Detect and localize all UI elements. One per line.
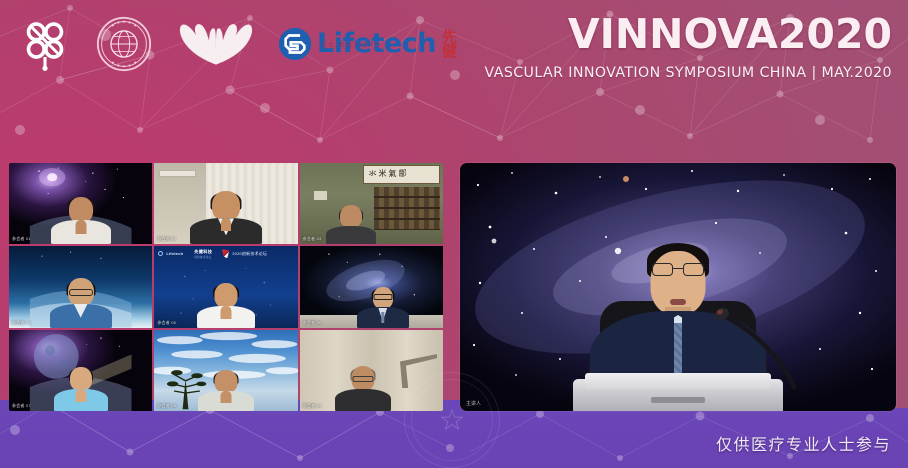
participant-label: 参会者 01 <box>12 236 31 242</box>
lifetech-subline: SCIENTIFIC <box>322 42 382 49</box>
participant-tile[interactable]: 参会者 02 <box>154 163 297 244</box>
participant-label: 参会者 07 <box>12 403 31 409</box>
banner-flag-icon <box>222 249 229 258</box>
participant-tile[interactable]: 参会者 07 <box>9 330 152 411</box>
participant-tile[interactable]: 参会者 08 <box>154 330 297 411</box>
lifetech-logo: Lifetech SCIENTIFIC 先 健 <box>278 12 457 76</box>
sponsor-logos: Lifetech SCIENTIFIC 先 健 <box>14 12 457 76</box>
main-speaker-panel[interactable]: 主讲人 <box>460 163 896 411</box>
participant-tile[interactable]: 参会者 04 <box>9 246 152 327</box>
sponsor-banner: Lifetech 先健科技 创新技术论坛 2020创新技术论坛 <box>154 246 297 261</box>
participant-label: 参会者 09 <box>303 403 322 409</box>
page-title: VINNOVA2020 <box>485 14 892 55</box>
lifetech-cn-bottom: 健 <box>442 44 457 58</box>
globe-seal-logo <box>90 12 158 76</box>
wings-logo <box>172 12 260 76</box>
banner-right-text: 2020创新技术论坛 <box>232 251 267 257</box>
participant-label: 参会者 04 <box>12 320 31 326</box>
participant-label: 参会者 02 <box>157 236 176 242</box>
participant-tile[interactable]: Lifetech 先健科技 创新技术论坛 2020创新技术论坛 参会者 05 <box>154 246 297 327</box>
lifetech-chinese-name: 先 健 <box>442 30 457 59</box>
banner-lifetech-mark-icon <box>158 251 163 256</box>
lifetech-mark-icon <box>278 27 312 61</box>
participant-grid[interactable]: 参会者 01 参会者 02 氺米氣郻 <box>9 163 443 411</box>
participant-tile[interactable]: 参会者 01 <box>9 163 152 244</box>
screen: Lifetech SCIENTIFIC 先 健 VINNOVA2020 VASC… <box>0 0 908 468</box>
participant-tile[interactable]: 氺米氣郻 参会者 03 <box>300 163 443 244</box>
clover-knot-logo <box>14 12 76 76</box>
header: Lifetech SCIENTIFIC 先 健 VINNOVA2020 VASC… <box>0 0 908 150</box>
participant-label: 参会者 05 <box>157 320 176 326</box>
star-icon <box>441 409 463 431</box>
event-title-block: VINNOVA2020 VASCULAR INNOVATION SYMPOSIU… <box>485 14 892 81</box>
participant-tile[interactable]: 参会者 06 <box>300 246 443 327</box>
disclaimer-note: 仅供医疗专业人士参与 <box>716 431 891 455</box>
event-subtitle: VASCULAR INNOVATION SYMPOSIUM CHINA | MA… <box>485 65 892 81</box>
banner-center-text: 先健科技 创新技术论坛 <box>194 249 212 259</box>
participant-label: 参会者 03 <box>303 236 322 242</box>
participant-label: 参会者 08 <box>157 403 176 409</box>
banner-brand: Lifetech <box>166 251 183 256</box>
circular-seal-watermark <box>404 372 500 468</box>
participant-label: 参会者 06 <box>303 320 322 326</box>
